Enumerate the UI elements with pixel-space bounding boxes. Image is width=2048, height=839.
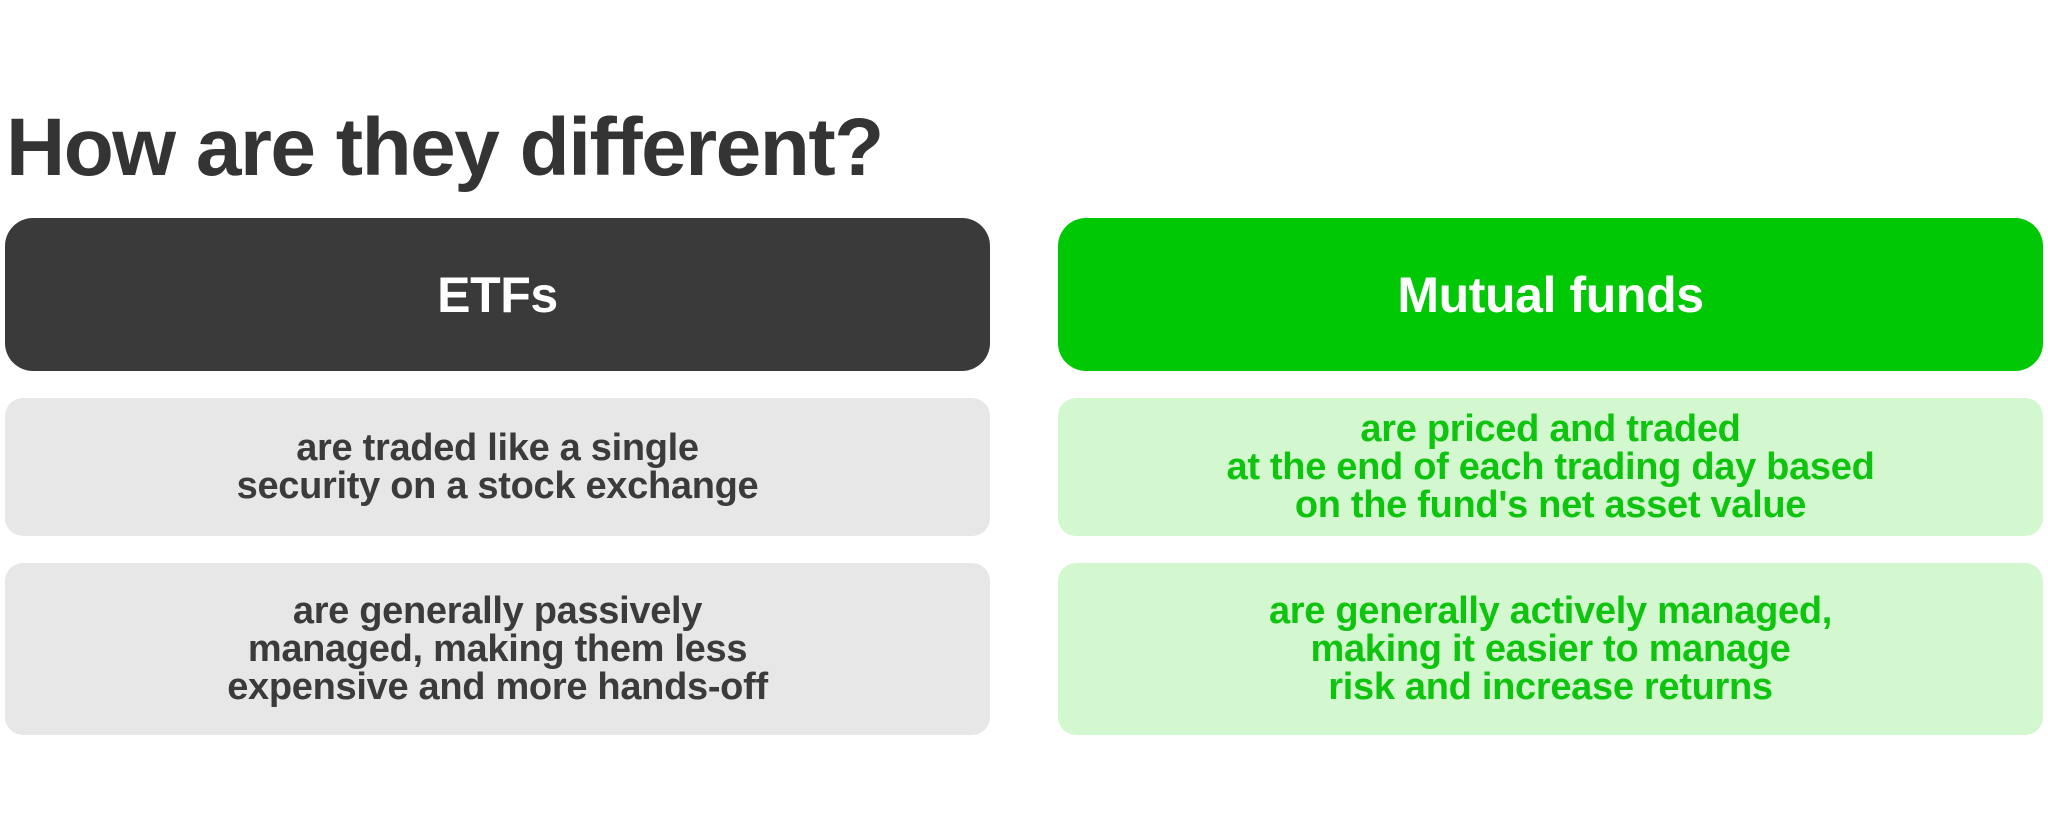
mutual-funds-card-2-text: are generally actively managed, making i… xyxy=(1269,592,1832,706)
column-header-etfs: ETFs xyxy=(5,218,990,371)
column-etfs: ETFs are traded like a single security o… xyxy=(5,218,990,735)
etfs-card-1: are traded like a single security on a s… xyxy=(5,398,990,536)
column-header-label-mutual-funds: Mutual funds xyxy=(1397,270,1703,320)
column-header-mutual-funds: Mutual funds xyxy=(1058,218,2043,371)
page-title: How are they different? xyxy=(6,107,883,189)
column-mutual-funds: Mutual funds are priced and traded at th… xyxy=(1058,218,2043,735)
etfs-card-2-text: are generally passively managed, making … xyxy=(227,592,768,706)
etfs-card-2: are generally passively managed, making … xyxy=(5,563,990,735)
comparison-columns: ETFs are traded like a single security o… xyxy=(5,218,2043,735)
column-header-label-etfs: ETFs xyxy=(437,270,558,320)
mutual-funds-card-1: are priced and traded at the end of each… xyxy=(1058,398,2043,536)
comparison-slide: How are they different? ETFs are traded … xyxy=(0,0,2048,839)
etfs-card-1-text: are traded like a single security on a s… xyxy=(237,429,759,505)
mutual-funds-card-1-text: are priced and traded at the end of each… xyxy=(1226,410,1874,524)
mutual-funds-card-2: are generally actively managed, making i… xyxy=(1058,563,2043,735)
